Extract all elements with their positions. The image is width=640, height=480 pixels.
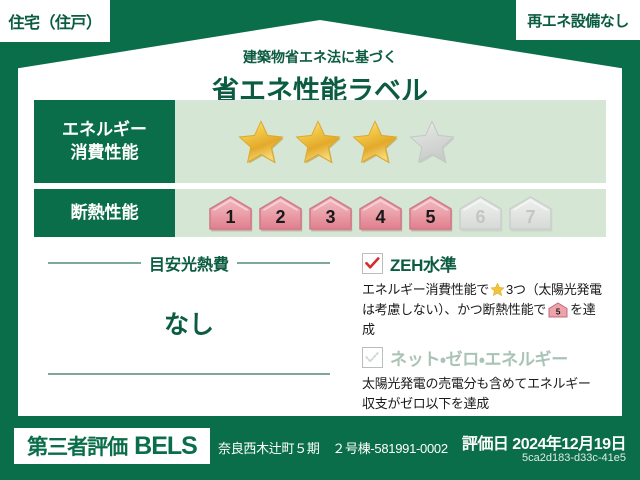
svg-text:5: 5 — [556, 306, 561, 316]
energy-performance-row: エネルギー 消費性能 — [34, 100, 606, 183]
criterion-nze-body-line1: 太陽光発電の売電分も含めてエネルギー — [362, 376, 591, 391]
insulation-level-3: 3 — [307, 194, 354, 232]
utility-cost-rule-right — [237, 262, 330, 264]
label-panel: 建築物省エネ法に基づく 省エネ性能ラベル エネルギー 消費性能 断熱性能 123… — [18, 20, 622, 416]
lower-section: 目安光熱費 なし ZEH水準 — [34, 245, 606, 413]
insulation-house-list: 1234567 — [207, 194, 557, 232]
star-icon — [490, 282, 505, 297]
house-icon: 5 — [548, 302, 568, 318]
utility-cost-rule-left — [48, 262, 141, 264]
evaluation-date: 評価日 2024年12月19日 — [462, 430, 626, 454]
criterion-zeh-title: ZEH水準 — [390, 251, 457, 276]
utility-cost-value: なし — [34, 305, 344, 341]
utility-cost-panel: 目安光熱費 なし — [34, 245, 344, 413]
criterion-net-zero-energy: ネット・ゼロ・エネルギー 太陽光発電の売電分も含めてエネルギー収支がゼロ以下を達… — [362, 345, 606, 414]
insulation-level-number: 5 — [425, 207, 435, 232]
energy-star-rating — [175, 100, 606, 183]
criterion-zeh-body-line1a: エネルギー消費性能で — [362, 282, 489, 297]
utility-cost-heading: 目安光熱費 — [48, 251, 330, 275]
insulation-performance-row: 断熱性能 1234567 — [34, 189, 606, 237]
energy-label-card: 住宅（住戸） 再エネ設備なし 建築物省エネ法に基づく 省エネ性能ラベル エネルギ… — [0, 0, 640, 480]
bels-logo: 第三者評価 BELS — [14, 428, 210, 464]
label-subtitle: 建築物省エネ法に基づく — [18, 47, 622, 67]
dotted-box-icon — [362, 347, 383, 368]
evaluation-id: 5ca2d183-d33c-41e5 — [522, 452, 626, 464]
insulation-performance-label-text: 断熱性能 — [71, 202, 139, 224]
energy-performance-label-line2: 消費性能 — [71, 142, 139, 164]
panel-heading: 建築物省エネ法に基づく 省エネ性能ラベル — [18, 47, 622, 108]
criterion-nze-body-line2: 収支がゼロ以下を達成 — [362, 396, 489, 411]
insulation-level-6: 6 — [457, 194, 504, 232]
utility-cost-bottom-rule — [48, 373, 330, 375]
insulation-performance-label: 断熱性能 — [34, 189, 175, 237]
star-icon-filled — [351, 119, 399, 165]
criterion-net-zero-energy-header: ネット・ゼロ・エネルギー — [362, 345, 606, 370]
check-icon — [362, 253, 383, 274]
utility-cost-heading-text: 目安光熱費 — [149, 251, 229, 275]
criterion-net-zero-energy-title: ネット・ゼロ・エネルギー — [390, 345, 568, 370]
criterion-zeh: ZEH水準 エネルギー消費性能で3つ（太陽光発電は考慮しない）、かつ断熱性能で5… — [362, 251, 606, 339]
criterion-zeh-header: ZEH水準 — [362, 251, 606, 276]
property-identifier: 奈良西木辻町５期 ２号棟-581991-0002 — [218, 438, 448, 457]
insulation-level-number: 3 — [325, 207, 335, 232]
insulation-level-number: 1 — [225, 207, 235, 232]
insulation-level-7: 7 — [507, 194, 554, 232]
insulation-level-4: 4 — [357, 194, 404, 232]
criterion-zeh-body: エネルギー消費性能で3つ（太陽光発電は考慮しない）、かつ断熱性能で5を達成 — [362, 280, 606, 339]
insulation-level-scale: 1234567 — [175, 189, 606, 237]
insulation-level-number: 6 — [475, 207, 485, 232]
energy-performance-label: エネルギー 消費性能 — [34, 100, 175, 183]
insulation-level-number: 7 — [525, 207, 535, 232]
footer: 第三者評価 BELS 奈良西木辻町５期 ２号棟-581991-0002 評価日 … — [0, 424, 640, 480]
insulation-level-5: 5 — [407, 194, 454, 232]
bels-logo-jp: 第三者評価 — [27, 431, 127, 461]
insulation-level-number: 4 — [375, 207, 385, 232]
star-icon-filled — [237, 119, 285, 165]
insulation-level-number: 2 — [275, 207, 285, 232]
energy-performance-label-line1: エネルギー — [62, 119, 147, 141]
insulation-level-2: 2 — [257, 194, 304, 232]
criterion-net-zero-energy-body: 太陽光発電の売電分も含めてエネルギー収支がゼロ以下を達成 — [362, 374, 606, 414]
criterion-zeh-body-line2a: は考慮しない）、かつ断熱性能で — [362, 302, 546, 317]
bels-logo-en: BELS — [134, 432, 197, 461]
criterion-zeh-body-line1b: 3つ（太陽光発電 — [506, 282, 602, 297]
star-icon-empty — [408, 119, 456, 165]
criteria-panel: ZEH水準 エネルギー消費性能で3つ（太陽光発電は考慮しない）、かつ断熱性能で5… — [344, 245, 606, 413]
building-type-badge: 住宅（住戸） — [0, 0, 110, 42]
renewable-equipment-badge: 再エネ設備なし — [516, 0, 640, 40]
insulation-level-1: 1 — [207, 194, 254, 232]
star-icon-filled — [294, 119, 342, 165]
